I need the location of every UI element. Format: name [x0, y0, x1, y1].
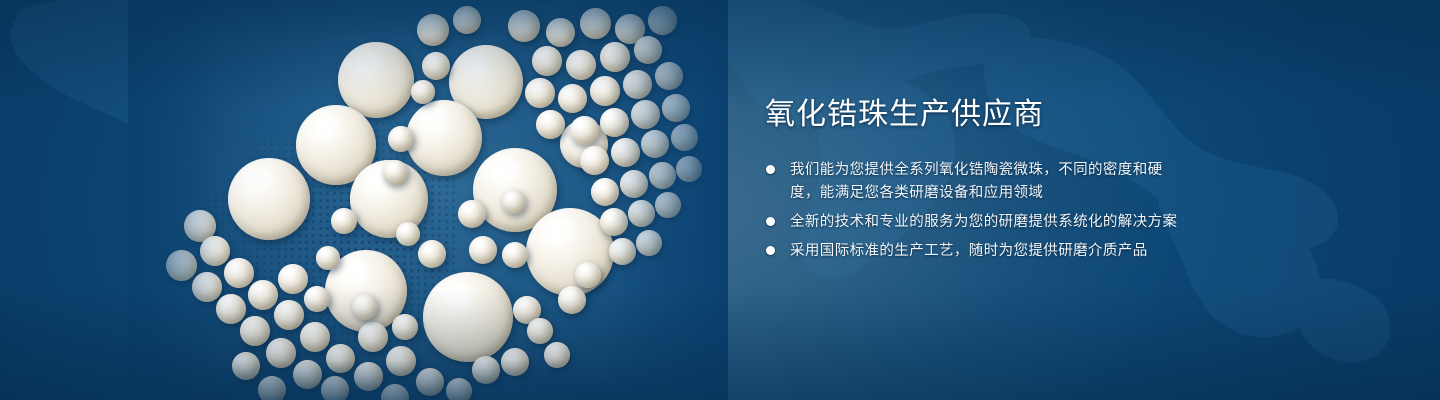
list-item: 我们能为您提供全系列氧化锆陶瓷微珠，不同的密度和硬度，能满足您各类研磨设备和应用… [763, 159, 1403, 205]
list-item: 采用国际标准的生产工艺，随时为您提供研磨介质产品 [763, 240, 1403, 263]
bullet-dot-icon [766, 217, 775, 226]
feature-list: 我们能为您提供全系列氧化锆陶瓷微珠，不同的密度和硬度，能满足您各类研磨设备和应用… [763, 159, 1403, 263]
feature-text: 采用国际标准的生产工艺，随时为您提供研磨介质产品 [790, 240, 1148, 263]
banner-copy: 氧化锆珠生产供应商 我们能为您提供全系列氧化锆陶瓷微珠，不同的密度和硬度，能满足… [763, 100, 1403, 269]
bullet-dot-icon [766, 246, 775, 255]
feature-text: 我们能为您提供全系列氧化锆陶瓷微珠，不同的密度和硬度，能满足您各类研磨设备和应用… [790, 159, 1190, 205]
hero-banner: 氧化锆珠生产供应商 我们能为您提供全系列氧化锆陶瓷微珠，不同的密度和硬度，能满足… [0, 0, 1440, 400]
feature-text: 全新的技术和专业的服务为您的研磨提供系统化的解决方案 [790, 211, 1177, 234]
bullet-dot-icon [766, 165, 775, 174]
page-title: 氧化锆珠生产供应商 [765, 100, 1403, 130]
list-item: 全新的技术和专业的服务为您的研磨提供系统化的解决方案 [763, 211, 1403, 234]
